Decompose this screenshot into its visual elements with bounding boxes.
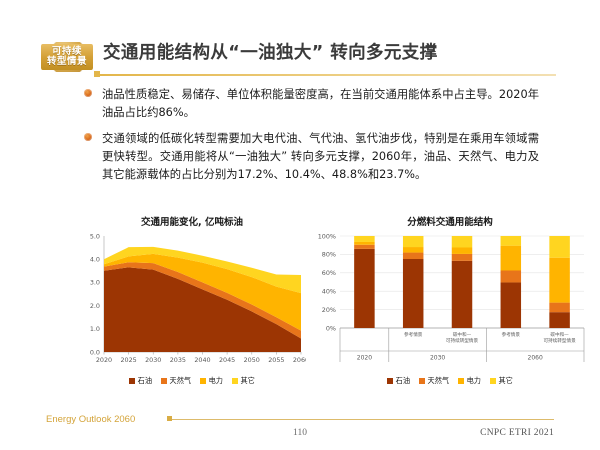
svg-text:2040: 2040 (194, 356, 210, 364)
legend-label: 电力 (467, 376, 481, 386)
area-chart: 0.01.02.03.04.05.02020202520302035204020… (78, 230, 306, 370)
svg-text:20%: 20% (322, 306, 336, 314)
slide-root: 可持续 转型情景 交通用能结构从“一油独大” 转向多元支撑 油品性质稳定、易储存… (0, 0, 600, 450)
svg-text:80%: 80% (322, 251, 336, 259)
footer-rule (172, 419, 554, 420)
svg-text:2.0: 2.0 (90, 302, 100, 310)
legend-swatch-icon (200, 378, 206, 384)
legend-item: 其它 (232, 376, 255, 386)
svg-text:2030: 2030 (430, 355, 445, 362)
list-item: 油品性质稳定、易储存、单位体积能量密度高，在当前交通用能体系中占主导。2020年… (84, 86, 539, 123)
chart-title-area: 交通用能变化, 亿吨标油 (78, 214, 306, 228)
slide-header: 可持续 转型情景 交通用能结构从“一油独大” 转向多元支撑 (0, 18, 600, 68)
scenario-badge-line2: 转型情景 (47, 57, 87, 67)
legend-item: 石油 (129, 376, 152, 386)
legend-swatch-icon (419, 378, 425, 384)
svg-text:2045: 2045 (219, 356, 235, 364)
title-rule (99, 74, 556, 76)
svg-text:碳中和—: 碳中和— (453, 331, 472, 338)
svg-text:2020: 2020 (96, 356, 112, 364)
svg-text:40%: 40% (322, 288, 336, 296)
svg-text:4.0: 4.0 (90, 256, 100, 264)
bullet-icon (84, 89, 92, 97)
legend-label: 其它 (240, 376, 254, 386)
bullet-text: 油品性质稳定、易储存、单位体积能量密度高，在当前交通用能体系中占主导。2020年… (102, 86, 539, 123)
legend-label: 电力 (209, 376, 223, 386)
svg-text:碳中和—: 碳中和— (550, 331, 569, 338)
svg-text:5.0: 5.0 (90, 232, 100, 240)
legend-item: 电力 (458, 376, 481, 386)
bar-chart: 0%20%40%60%80%100%参考情景碳中和—可持续转型情景参考情景碳中和… (310, 230, 590, 370)
svg-text:2030: 2030 (145, 356, 161, 364)
bullet-icon (84, 133, 92, 141)
chart-panel-area: 交通用能变化, 亿吨标油 0.01.02.03.04.05.0202020252… (78, 214, 306, 386)
svg-text:2020: 2020 (357, 355, 372, 362)
svg-text:1.0: 1.0 (90, 325, 100, 333)
legend-item: 天然气 (161, 376, 191, 386)
chart-panel-bar: 分燃料交通用能结构 0%20%40%60%80%100%参考情景碳中和—可持续转… (310, 214, 590, 386)
legend-label: 天然气 (170, 376, 192, 386)
legend-swatch-icon (129, 378, 135, 384)
scenario-badge-plate: 可持续 转型情景 (41, 44, 93, 70)
legend-label: 石油 (396, 376, 410, 386)
footer-brand: Energy Outlook 2060 (46, 414, 135, 425)
legend-label: 天然气 (428, 376, 450, 386)
chart-title-bar: 分燃料交通用能结构 (310, 214, 590, 228)
svg-text:60%: 60% (322, 269, 336, 277)
svg-text:可持续转型情景: 可持续转型情景 (544, 337, 577, 344)
legend-item: 石油 (387, 376, 410, 386)
list-item: 交通领域的低碳化转型需要加大电代油、气代油、氢代油步伐，特别是在乘用车领域需更快… (84, 130, 539, 185)
legend-swatch-icon (232, 378, 238, 384)
legend-item: 电力 (200, 376, 223, 386)
svg-text:可持续转型情景: 可持续转型情景 (446, 337, 479, 344)
legend-swatch-icon (161, 378, 167, 384)
svg-text:2050: 2050 (244, 356, 260, 364)
svg-text:2055: 2055 (268, 356, 284, 364)
svg-text:参考情景: 参考情景 (502, 331, 521, 338)
legend-swatch-icon (458, 378, 464, 384)
scenario-badge: 可持续 转型情景 (41, 42, 93, 72)
legend-swatch-icon (490, 378, 496, 384)
svg-text:参考情景: 参考情景 (404, 331, 423, 338)
legend-swatch-icon (387, 378, 393, 384)
svg-text:2025: 2025 (120, 356, 136, 364)
legend-item: 天然气 (419, 376, 449, 386)
legend-item: 其它 (490, 376, 513, 386)
chart-legend-area: 石油天然气电力其它 (78, 376, 306, 386)
svg-text:2060: 2060 (293, 356, 306, 364)
svg-text:3.0: 3.0 (90, 279, 100, 287)
bullet-text: 交通领域的低碳化转型需要加大电代油、气代油、氢代油步伐，特别是在乘用车领域需更快… (102, 130, 539, 185)
svg-text:2060: 2060 (528, 355, 543, 362)
svg-text:2035: 2035 (170, 356, 186, 364)
footer-organization: CNPC ETRI 2021 (480, 428, 554, 438)
svg-text:100%: 100% (318, 232, 336, 240)
page-title: 交通用能结构从“一油独大” 转向多元支撑 (103, 39, 438, 64)
legend-label: 石油 (138, 376, 152, 386)
svg-text:0%: 0% (326, 324, 336, 332)
bullet-list: 油品性质稳定、易储存、单位体积能量密度高，在当前交通用能体系中占主导。2020年… (84, 86, 539, 191)
legend-label: 其它 (498, 376, 512, 386)
chart-legend-bar: 石油天然气电力其它 (310, 376, 590, 386)
